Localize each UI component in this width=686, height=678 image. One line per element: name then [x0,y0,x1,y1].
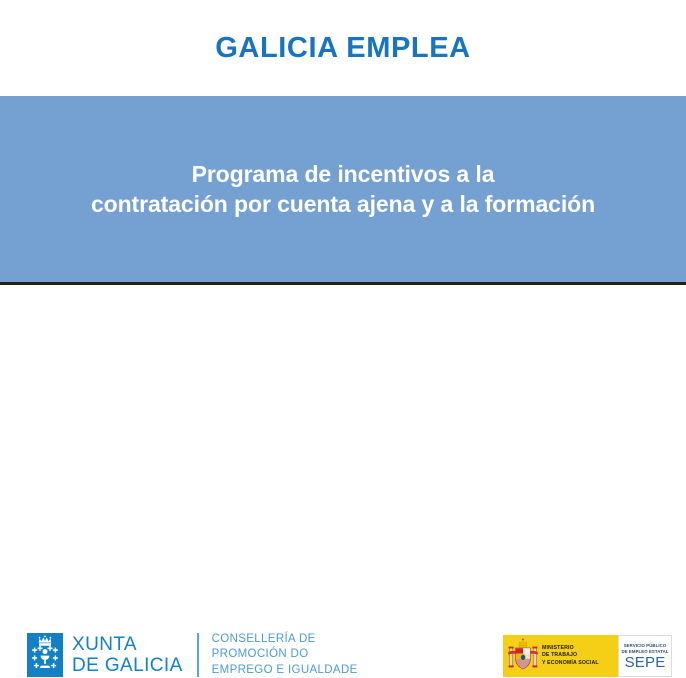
conselleria-line-3: EMPREGO E IGUALDADE [212,663,358,678]
xunta-wordmark-line-2: DE GALICIA [72,655,183,676]
sepe-logo: SERVICIO PÚBLICO DE EMPLEO ESTATAL SEPE [618,635,672,677]
xunta-de-galicia-logo: XUNTA DE GALICIA CONSELLERÍA DE PROMOCIÓ… [27,632,358,678]
ministerio-line-1: MINISTERIO [542,645,599,652]
xunta-wordmark-line-1: XUNTA [72,634,183,655]
ministerio-line-2: DE TRABAJO [542,652,599,659]
footer-logos-bar: XUNTA DE GALICIA CONSELLERÍA DE PROMOCIÓ… [0,285,686,410]
conselleria-line-2: PROMOCIÓN DO [212,647,358,662]
ministerio-line-3: Y ECONOMÍA SOCIAL [542,660,599,667]
galicia-coat-of-arms-icon [27,633,63,677]
program-banner: Programa de incentivos a la contratación… [0,96,686,282]
government-logos-group: MINISTERIO DE TRABAJO Y ECONOMÍA SOCIAL … [503,635,672,677]
sepe-subtitle-line-1: SERVICIO PÚBLICO [621,643,668,649]
conselleria-line-1: CONSELLERÍA DE [212,632,358,647]
program-subtitle-line-1: Programa de incentivos a la [23,159,663,189]
conselleria-wordmark: CONSELLERÍA DE PROMOCIÓN DO EMPREGO E IG… [212,632,358,678]
xunta-wordmark: XUNTA DE GALICIA [72,634,183,677]
program-subtitle-line-2: contratación por cuenta ajena y a la for… [23,189,663,219]
ministerio-de-trabajo-logo: MINISTERIO DE TRABAJO Y ECONOMÍA SOCIAL [503,635,618,677]
sepe-subtitle-line-2: DE EMPLEO ESTATAL [621,649,668,655]
page-title: GALICIA EMPLEA [215,32,470,65]
ministerio-wordmark: MINISTERIO DE TRABAJO Y ECONOMÍA SOCIAL [542,645,599,667]
program-subtitle: Programa de incentivos a la contratación… [23,159,663,220]
spain-coat-of-arms-icon [508,638,538,674]
header-banner: GALICIA EMPLEA [0,0,686,96]
sepe-acronym: SEPE [625,655,666,670]
logo-vertical-divider [197,633,199,677]
sepe-subtitle: SERVICIO PÚBLICO DE EMPLEO ESTATAL [621,643,668,655]
